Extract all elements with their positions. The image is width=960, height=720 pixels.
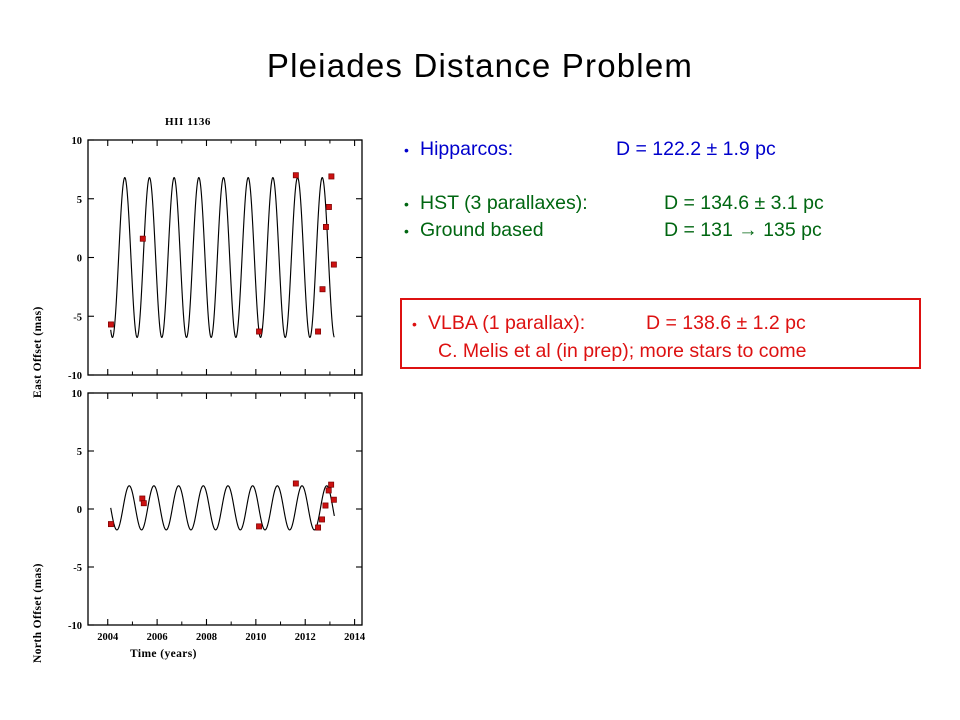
result-row-hipparcos: • Hipparcos: D = 122.2 ± 1.9 pc: [404, 136, 944, 164]
vlba-value: D = 138.6 ± 1.2 pc: [646, 310, 806, 338]
hipparcos-value: D = 122.2 ± 1.9 pc: [616, 136, 776, 164]
x-tick-label: 2012: [295, 632, 316, 643]
data-point: [256, 524, 261, 529]
data-point: [315, 525, 320, 530]
x-tick-label: 2008: [196, 632, 217, 643]
north-offset-plot: 200420062008201020122014-10-50510: [68, 389, 366, 643]
result-row-hst: • HST (3 parallaxes): D = 134.6 ± 3.1 pc: [404, 190, 944, 218]
y-tick-label: -10: [68, 621, 82, 632]
parallax-model-curve: [111, 178, 335, 338]
y-tick-label: -5: [73, 563, 82, 574]
data-point: [256, 329, 261, 334]
hst-value: D = 134.6 ± 3.1 pc: [664, 190, 824, 218]
x-tick-label: 2006: [147, 632, 168, 643]
vlba-highlight-box: • VLBA (1 parallax): D = 138.6 ± 1.2 pc …: [400, 298, 921, 369]
y-tick-label: 5: [77, 195, 82, 206]
data-point: [140, 236, 145, 241]
y-tick-label: -10: [68, 371, 82, 382]
parallax-figure: HII 1136 East Offset (mas) North Offset …: [18, 108, 388, 668]
x-tick-label: 2010: [245, 632, 266, 643]
data-point: [326, 488, 331, 493]
data-point: [293, 173, 298, 178]
plot-frame: [88, 140, 362, 375]
distance-results-list: • Hipparcos: D = 122.2 ± 1.9 pc • HST (3…: [404, 136, 944, 245]
data-point: [329, 482, 334, 487]
x-tick-label: 2014: [344, 632, 366, 643]
page-title: Pleiades Distance Problem: [0, 47, 960, 85]
data-point: [323, 503, 328, 508]
bullet-icon: •: [412, 317, 428, 331]
data-point: [108, 322, 113, 327]
bullet-icon: •: [404, 197, 420, 211]
data-point: [331, 262, 336, 267]
east-offset-plot: -10-50510: [68, 136, 362, 382]
data-point: [315, 329, 320, 334]
data-point: [323, 224, 328, 229]
bullet-icon: •: [404, 224, 420, 238]
vlba-label: VLBA (1 parallax):: [428, 310, 646, 338]
data-point: [331, 497, 336, 502]
result-group-optical: • HST (3 parallaxes): D = 134.6 ± 3.1 pc…: [404, 190, 944, 245]
result-row-ground-based: • Ground based D = 131 → 135 pc: [404, 217, 944, 245]
y-tick-label: 5: [77, 447, 82, 458]
vlba-citation: C. Melis et al (in prep); more stars to …: [412, 338, 919, 366]
data-point: [293, 481, 298, 486]
ground-based-value: D = 131 → 135 pc: [664, 217, 822, 245]
hipparcos-label: Hipparcos:: [420, 136, 616, 164]
result-group-hipparcos: • Hipparcos: D = 122.2 ± 1.9 pc: [404, 136, 944, 164]
result-row-vlba: • VLBA (1 parallax): D = 138.6 ± 1.2 pc: [412, 310, 919, 338]
y-tick-label: 0: [77, 254, 82, 265]
data-point: [326, 204, 331, 209]
hst-label: HST (3 parallaxes):: [420, 190, 664, 218]
y-tick-label: -5: [73, 312, 82, 323]
parallax-plots-canvas: -10-50510200420062008201020122014-10-505…: [18, 108, 388, 668]
ground-based-label: Ground based: [420, 217, 664, 245]
x-tick-label: 2004: [97, 632, 119, 643]
data-point: [329, 174, 334, 179]
bullet-icon: •: [404, 143, 420, 157]
y-tick-label: 10: [72, 136, 83, 147]
y-tick-label: 10: [72, 389, 83, 400]
y-tick-label: 0: [77, 505, 82, 516]
data-point: [320, 287, 325, 292]
data-point: [108, 521, 113, 526]
parallax-model-curve: [111, 486, 335, 530]
data-point: [319, 517, 324, 522]
data-point: [141, 501, 146, 506]
